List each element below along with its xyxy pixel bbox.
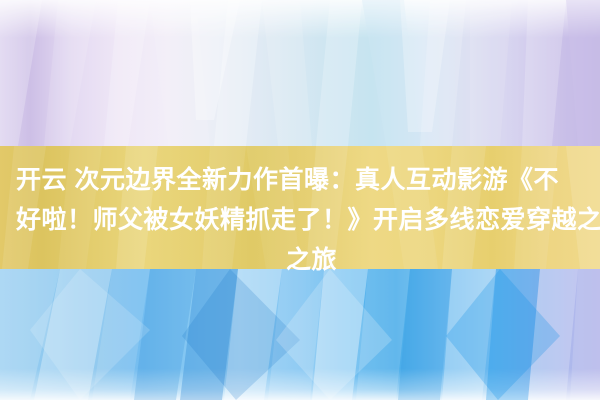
background-band-top (0, 0, 600, 146)
headline-line-2: 好啦！师父被女妖精抓走了！》开启多线恋爱穿越之旅 (16, 200, 600, 240)
background-band-blue-fade (0, 269, 600, 400)
headline-line-1: 开云 次元边界全新力作首曝：真人互动影游《不 (16, 160, 600, 200)
banner-headline: 开云 次元边界全新力作首曝：真人互动影游《不 好啦！师父被女妖精抓走了！》开启多… (16, 160, 600, 280)
banner-canvas: 开云 次元边界全新力作首曝：真人互动影游《不 好啦！师父被女妖精抓走了！》开启多… (0, 0, 600, 400)
headline-line-3: 之旅 (16, 240, 600, 280)
